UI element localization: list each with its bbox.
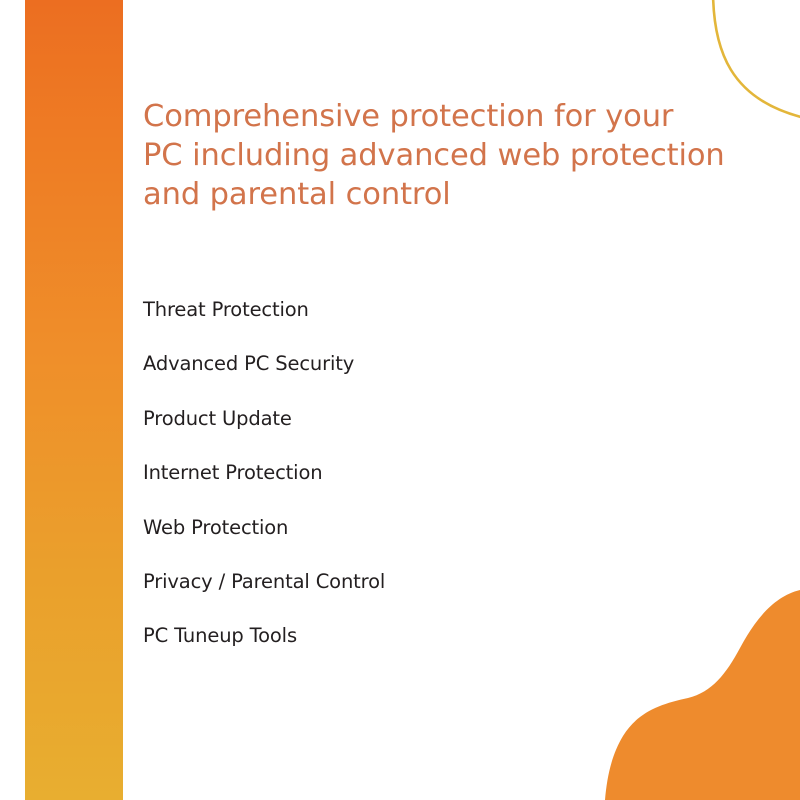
list-item: Web Protection	[143, 516, 703, 570]
list-item: PC Tuneup Tools	[143, 624, 703, 678]
list-item: Privacy / Parental Control	[143, 570, 703, 624]
list-item: Internet Protection	[143, 461, 703, 515]
content-column: Comprehensive protection for your PC inc…	[143, 0, 763, 800]
left-gradient-bar	[25, 0, 123, 800]
list-item: Product Update	[143, 407, 703, 461]
feature-list: Threat Protection Advanced PC Security P…	[143, 298, 703, 679]
promo-slide: Comprehensive protection for your PC inc…	[0, 0, 800, 800]
page-title: Comprehensive protection for your PC inc…	[143, 97, 743, 214]
list-item: Threat Protection	[143, 298, 703, 352]
left-gradient-bar-svg	[25, 0, 123, 800]
list-item: Advanced PC Security	[143, 352, 703, 406]
